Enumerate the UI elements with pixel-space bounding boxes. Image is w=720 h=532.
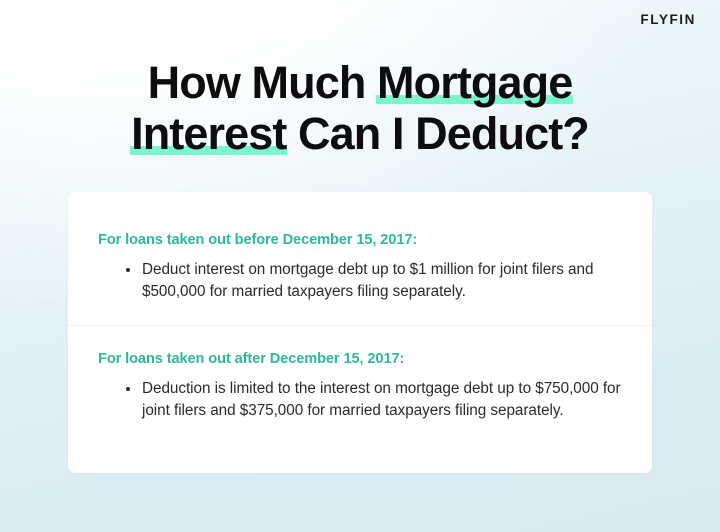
title-line-1: How Much Mortgage — [0, 57, 720, 108]
page-title: How Much Mortgage Interest Can I Deduct? — [0, 57, 720, 159]
title-highlight-interest: Interest — [131, 108, 286, 159]
title-line-1-prefix: How Much — [148, 57, 377, 108]
title-line-2-suffix: Can I Deduct? — [286, 108, 588, 159]
slide-canvas: FLYFIN How Much Mortgage Interest Can I … — [0, 0, 720, 532]
title-highlight-mortgage: Mortgage — [377, 57, 572, 108]
title-line-2: Interest Can I Deduct? — [0, 108, 720, 159]
flyfin-logo: FLYFIN — [640, 12, 696, 28]
bullet-list-before: Deduct interest on mortgage debt up to $… — [98, 259, 622, 303]
card-section-after-2017: For loans taken out after December 15, 2… — [68, 326, 652, 422]
section-heading-after: For loans taken out after December 15, 2… — [98, 350, 622, 368]
content-card: For loans taken out before December 15, … — [68, 192, 652, 473]
card-section-before-2017: For loans taken out before December 15, … — [68, 192, 652, 303]
bullet-list-after: Deduction is limited to the interest on … — [98, 378, 622, 422]
list-item: Deduction is limited to the interest on … — [126, 378, 622, 422]
section-heading-before: For loans taken out before December 15, … — [98, 231, 622, 249]
list-item: Deduct interest on mortgage debt up to $… — [126, 259, 622, 303]
